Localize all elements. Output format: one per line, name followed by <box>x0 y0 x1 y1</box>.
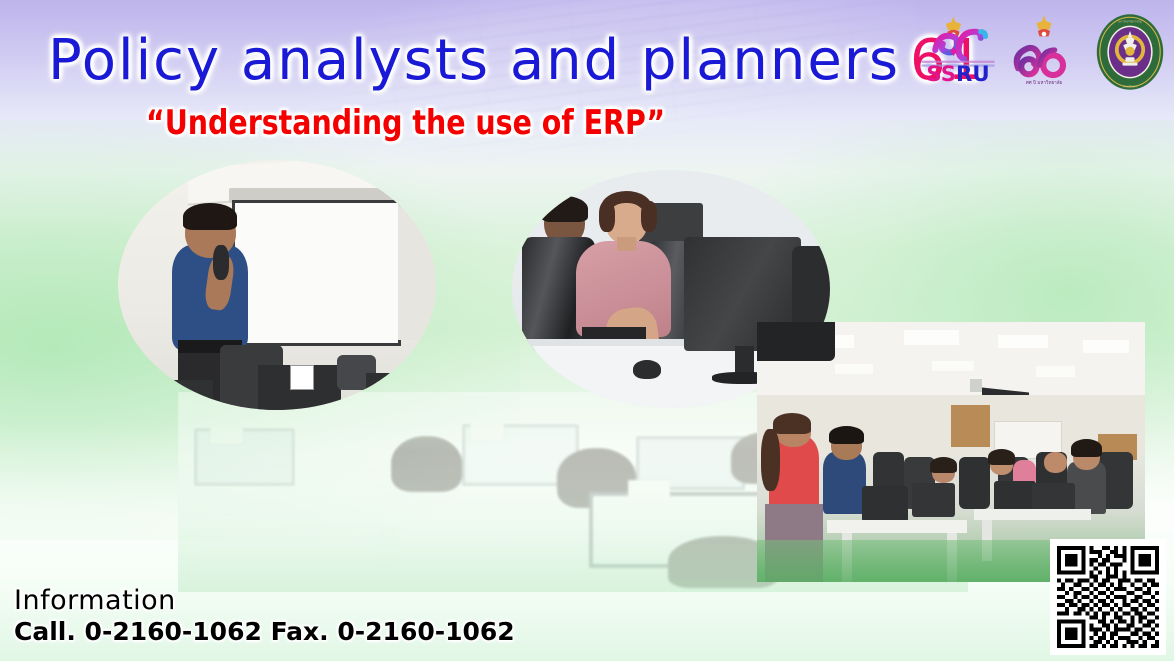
logo-group: SSRU <box>920 12 1168 92</box>
information-contact: Call. 0-2160-1062 Fax. 0-2160-1062 <box>14 616 515 647</box>
anniversary-caption: ศศ ปี มหาวิทยาลัย <box>1026 79 1063 86</box>
information-block: Information Call. 0-2160-1062 Fax. 0-216… <box>14 586 515 647</box>
page-title-main: Policy analysts and planners <box>48 28 900 93</box>
80th-anniversary-logo: ศศ ปี มหาวิทยาลัย <box>1006 12 1082 88</box>
ssru-wordmark-ss: SS <box>926 62 956 87</box>
ssru-wordmark-ru: RU <box>956 62 990 87</box>
svg-text:มหาวิทยาลัยราชภัฏ: มหาวิทยาลัยราชภัฏ <box>1118 20 1141 24</box>
information-heading: Information <box>14 586 515 616</box>
page-title: Policy analysts and planners61 <box>48 28 985 93</box>
qr-code-canvas <box>1057 546 1159 648</box>
ssru-logo: SSRU <box>920 12 996 88</box>
page-subtitle: “Understanding the use of ERP” <box>146 103 665 143</box>
poster-canvas: Policy analysts and planners61 “Understa… <box>0 0 1174 661</box>
svg-text:SSRU: SSRU <box>926 62 989 87</box>
qr-code[interactable] <box>1050 539 1166 655</box>
presenter-photo <box>118 160 436 410</box>
university-seal: มหาวิทยาลัยราชภัฏ สวนสุนันทา <box>1092 12 1168 92</box>
